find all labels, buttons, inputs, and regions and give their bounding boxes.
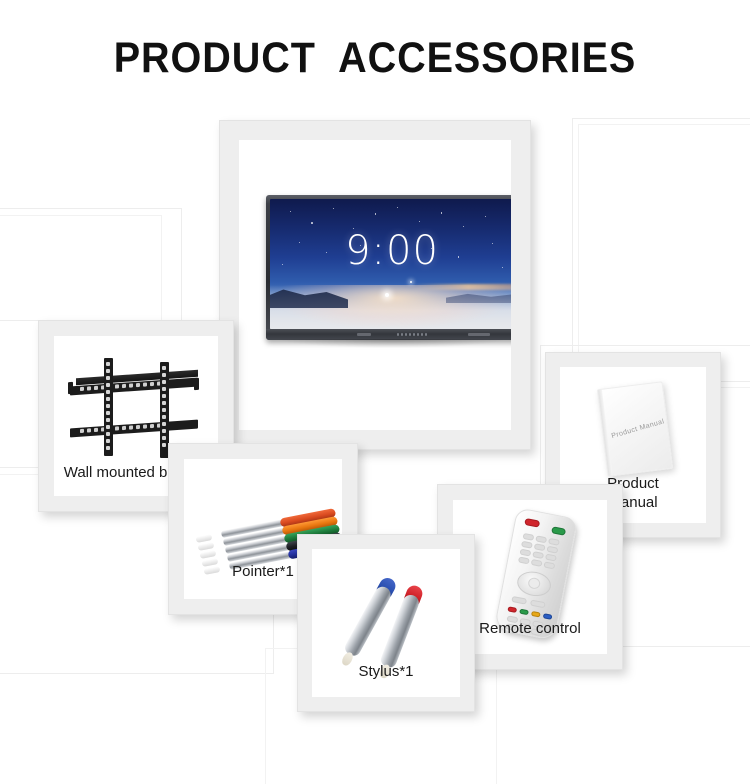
booklet-cover-text: Product Manual <box>609 418 667 441</box>
chin-port-strip <box>468 333 490 336</box>
pointer-tip <box>197 542 214 551</box>
stylus-card: Stylus*1 <box>297 534 475 712</box>
bright-star <box>385 293 389 297</box>
pointer-tip <box>195 534 212 543</box>
bracket-arm-left-holes <box>106 362 110 450</box>
bracket-end-right <box>194 378 199 390</box>
product-manual-booklet: Product Manual <box>597 381 673 476</box>
remote-control-card-inner: Remote control <box>453 500 607 654</box>
chin-control-dots <box>397 333 427 336</box>
display-card: 9:00 <box>219 120 531 450</box>
page-title: PRODUCT ACCESSORIES <box>30 34 720 83</box>
screen-clock: 9:00 <box>270 228 511 274</box>
display-screen: 9:00 <box>270 199 511 329</box>
pointer-1 <box>195 535 197 544</box>
pointer-tip <box>199 550 216 559</box>
display-card-inner: 9:00 <box>239 140 511 430</box>
display-shadow <box>281 339 503 348</box>
bg-rect-right-1 <box>572 118 750 382</box>
remote-control-label: Remote control <box>453 619 607 638</box>
product-accessories-page: PRODUCT ACCESSORIES <box>0 0 750 784</box>
bracket-arm-right-holes <box>162 366 166 447</box>
pointer-3 <box>199 551 201 560</box>
pointer-2 <box>197 543 199 552</box>
bg-rect-right-2 <box>578 124 750 388</box>
display-bezel: 9:00 <box>266 195 511 340</box>
stylus-card-inner: Stylus*1 <box>312 549 460 697</box>
bracket-end-left <box>68 382 73 394</box>
chin-logo <box>357 333 371 336</box>
stylus-label: Stylus*1 <box>312 662 460 681</box>
flat-panel-display: 9:00 <box>266 195 511 340</box>
